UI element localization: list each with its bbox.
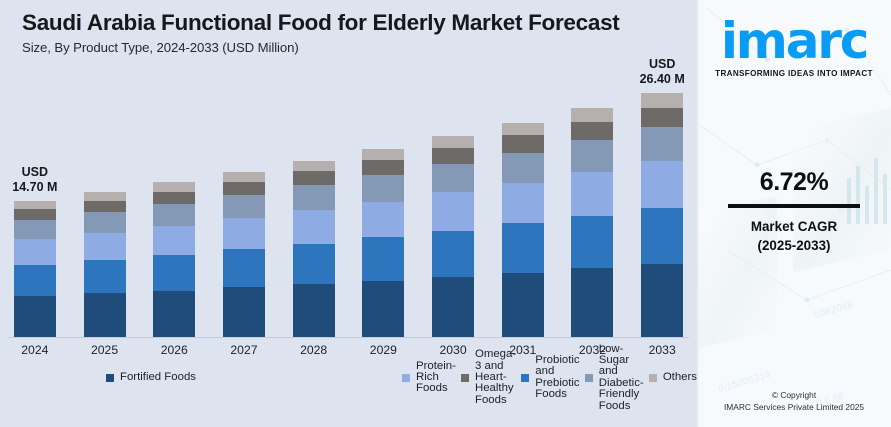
bar-segment[interactable] <box>432 136 474 148</box>
cagr-value: 6.72% <box>697 168 891 197</box>
bar-segment[interactable] <box>14 296 56 337</box>
bar-segment[interactable] <box>641 208 683 264</box>
bar-segment[interactable] <box>571 268 613 337</box>
legend-label: Fortified Foods <box>120 372 196 383</box>
bar-column-2030[interactable] <box>418 50 488 337</box>
bar-segment[interactable] <box>641 161 683 207</box>
bar-segment[interactable] <box>84 233 126 261</box>
bar-stack-2028[interactable] <box>293 161 335 337</box>
bar-segment[interactable] <box>293 171 335 185</box>
brand-panel: 5062048 0.15206214 0.0 68 0.0 imarc TRAN… <box>697 0 891 427</box>
chart-legend: Fortified FoodsProtein-Rich FoodsOmega-3… <box>0 370 697 386</box>
bar-segment[interactable] <box>362 237 404 280</box>
legend-item[interactable]: Omega-3 and Heart-Healthy Foods <box>461 370 521 386</box>
imarc-logo-tagline: TRANSFORMING IDEAS INTO IMPACT <box>697 69 891 78</box>
bar-segment[interactable] <box>571 122 613 140</box>
bar-value-label-currency: USD <box>649 57 675 71</box>
bar-stack-2031[interactable] <box>502 122 544 337</box>
bar-column-2028[interactable] <box>279 50 349 337</box>
bar-stack-2024[interactable] <box>14 201 56 337</box>
bar-segment[interactable] <box>293 161 335 172</box>
legend-swatch-icon <box>521 374 529 382</box>
bar-segment[interactable] <box>571 216 613 269</box>
bar-segment[interactable] <box>84 201 126 213</box>
legend-swatch-icon <box>461 374 469 382</box>
bar-segment[interactable] <box>153 192 195 204</box>
bar-stack-2030[interactable] <box>432 136 474 337</box>
bar-segment[interactable] <box>223 218 265 249</box>
infographic-root: Saudi Arabia Functional Food for Elderly… <box>0 0 891 427</box>
bar-stack-2027[interactable] <box>223 172 265 337</box>
bar-segment[interactable] <box>14 220 56 239</box>
bar-segment[interactable] <box>223 287 265 337</box>
bar-segment[interactable] <box>84 260 126 293</box>
bar-column-2027[interactable] <box>209 50 279 337</box>
bar-stack-2026[interactable] <box>153 182 195 337</box>
bar-column-2024[interactable]: USD14.70 M <box>0 50 70 337</box>
bar-segment[interactable] <box>432 192 474 230</box>
bar-segment[interactable] <box>432 164 474 192</box>
bar-segment[interactable] <box>502 135 544 152</box>
x-axis-tick-2026: 2026 <box>139 338 209 360</box>
legend-label: Low-Sugar and Diabetic-Friendly Foods <box>599 344 649 412</box>
x-axis-tick-2024: 2024 <box>0 338 70 360</box>
x-axis-tick-2029: 2029 <box>349 338 419 360</box>
legend-item[interactable]: Probiotic and Prebiotic Foods <box>521 370 584 386</box>
bar-segment[interactable] <box>641 108 683 128</box>
legend-label: Protein-Rich Foods <box>416 361 461 395</box>
bar-value-label-currency: USD <box>22 165 48 179</box>
bar-column-2025[interactable] <box>70 50 140 337</box>
bar-stack-2033[interactable] <box>641 93 683 337</box>
bar-segment[interactable] <box>293 210 335 243</box>
cagr-label: Market CAGR (2025-2033) <box>697 217 891 256</box>
bar-segment[interactable] <box>502 123 544 136</box>
bar-stack-2032[interactable] <box>571 108 613 337</box>
bar-segment[interactable] <box>223 172 265 182</box>
bar-segment[interactable] <box>84 212 126 232</box>
bar-segment[interactable] <box>84 192 126 201</box>
copyright-notice: © Copyright IMARC Services Private Limit… <box>697 389 891 414</box>
imarc-logo: imarc TRANSFORMING IDEAS INTO IMPACT <box>697 18 891 78</box>
bar-segment[interactable] <box>14 265 56 296</box>
bar-segment[interactable] <box>223 182 265 195</box>
bar-group: USD14.70 MUSD26.40 M <box>0 50 697 337</box>
bar-segment[interactable] <box>432 231 474 277</box>
cagr-label-line-2: (2025-2033) <box>697 236 891 255</box>
bar-segment[interactable] <box>362 149 404 160</box>
bar-segment[interactable] <box>223 249 265 287</box>
cagr-divider <box>728 204 860 208</box>
bar-segment[interactable] <box>293 284 335 337</box>
bar-segment[interactable] <box>153 291 195 337</box>
bar-stack-2025[interactable] <box>84 192 126 337</box>
legend-item[interactable]: Protein-Rich Foods <box>402 370 461 386</box>
bar-segment[interactable] <box>84 293 126 337</box>
chart-panel: Saudi Arabia Functional Food for Elderly… <box>0 0 697 427</box>
bar-segment[interactable] <box>14 239 56 265</box>
legend-item[interactable]: Low-Sugar and Diabetic-Friendly Foods <box>585 370 649 386</box>
bar-column-2031[interactable] <box>488 50 558 337</box>
bar-column-2029[interactable] <box>349 50 419 337</box>
imarc-logo-wordmark: imarc <box>697 18 891 66</box>
bar-segment[interactable] <box>362 281 404 337</box>
legend-swatch-icon <box>402 374 410 382</box>
x-axis-tick-2028: 2028 <box>279 338 349 360</box>
bar-segment[interactable] <box>571 172 613 215</box>
bar-value-label-amount: 26.40 M <box>627 72 697 86</box>
bar-segment[interactable] <box>502 153 544 183</box>
legend-swatch-icon <box>649 374 657 382</box>
legend-label: Omega-3 and Heart-Healthy Foods <box>475 349 521 406</box>
bar-value-label-2033: USD26.40 M <box>627 57 697 86</box>
bar-segment[interactable] <box>571 108 613 122</box>
bar-column-2026[interactable] <box>139 50 209 337</box>
bar-segment[interactable] <box>362 175 404 201</box>
bar-segment[interactable] <box>14 209 56 220</box>
bar-column-2032[interactable] <box>558 50 628 337</box>
page-title: Saudi Arabia Functional Food for Elderly… <box>22 10 697 35</box>
plot-area: USD14.70 MUSD26.40 M <box>0 50 697 338</box>
bar-segment[interactable] <box>571 140 613 172</box>
bar-column-2033[interactable]: USD26.40 M <box>627 50 697 337</box>
bar-segment[interactable] <box>502 223 544 272</box>
bar-segment[interactable] <box>293 185 335 210</box>
bar-segment[interactable] <box>153 204 195 226</box>
bar-segment[interactable] <box>432 277 474 337</box>
chart-header: Saudi Arabia Functional Food for Elderly… <box>0 0 697 55</box>
bar-segment[interactable] <box>362 160 404 175</box>
x-axis-tick-2027: 2027 <box>209 338 279 360</box>
bar-segment[interactable] <box>153 182 195 191</box>
legend-swatch-icon <box>585 374 593 382</box>
legend-item[interactable]: Fortified Foods <box>106 370 402 386</box>
x-axis-tick-2025: 2025 <box>70 338 140 360</box>
x-axis: 2024202520262027202820292030203120322033 <box>0 338 697 360</box>
legend-swatch-icon <box>106 374 114 382</box>
cagr-callout: 6.72% Market CAGR (2025-2033) <box>697 168 891 256</box>
bar-segment[interactable] <box>432 148 474 164</box>
bar-value-label-2024: USD14.70 M <box>0 165 70 194</box>
bar-segment[interactable] <box>641 127 683 161</box>
bar-segment[interactable] <box>502 183 544 224</box>
legend-label: Probiotic and Prebiotic Foods <box>535 355 584 401</box>
bar-segment[interactable] <box>502 273 544 337</box>
bar-segment[interactable] <box>14 201 56 209</box>
bar-stack-2029[interactable] <box>362 149 404 337</box>
bar-segment[interactable] <box>153 226 195 255</box>
bar-segment[interactable] <box>293 244 335 285</box>
bar-segment[interactable] <box>362 202 404 238</box>
bar-segment[interactable] <box>641 264 683 337</box>
copyright-line-1: © Copyright <box>697 389 891 402</box>
bar-segment[interactable] <box>223 195 265 218</box>
legend-item[interactable]: Others <box>649 370 697 386</box>
bar-segment[interactable] <box>641 93 683 108</box>
bar-segment[interactable] <box>153 255 195 291</box>
copyright-line-2: IMARC Services Private Limited 2025 <box>697 401 891 414</box>
legend-label: Others <box>663 372 697 383</box>
cagr-label-line-1: Market CAGR <box>697 217 891 236</box>
bar-value-label-amount: 14.70 M <box>0 180 70 194</box>
